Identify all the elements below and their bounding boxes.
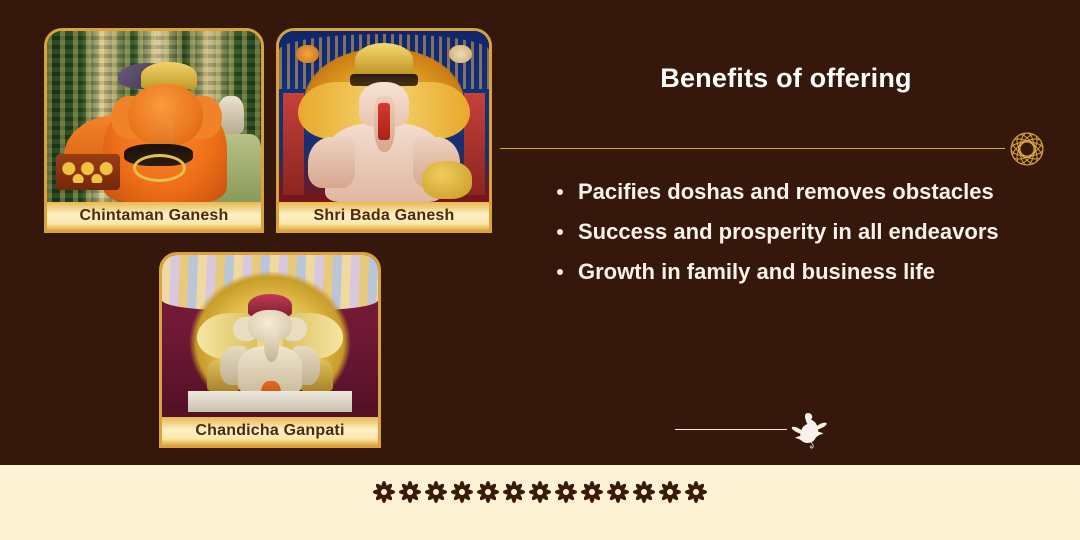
eight-petal-flower-icon xyxy=(449,479,475,525)
slide-root: Chintaman Ganesh xyxy=(0,0,1080,540)
eight-petal-flower-icon xyxy=(371,479,397,525)
eight-petal-flower-icon xyxy=(527,479,553,525)
photo-caption: Shri Bada Ganesh xyxy=(279,202,489,230)
list-item: Pacifies doshas and removes obstacles xyxy=(548,172,1048,212)
eight-petal-flower-icon xyxy=(553,479,579,525)
eight-petal-flower-icon xyxy=(579,479,605,525)
list-item: Success and prosperity in all endeavors xyxy=(548,212,1048,252)
gold-divider-rule xyxy=(500,148,1005,149)
list-item: Growth in family and business life xyxy=(548,252,1048,292)
photo-caption: Chandicha Ganpati xyxy=(162,417,378,445)
eight-petal-flower-icon xyxy=(605,479,631,525)
chandicha-ganpati-idol-photo xyxy=(162,255,378,417)
ganesha-divider xyxy=(675,410,940,450)
benefits-list: Pacifies doshas and removes obstacles Su… xyxy=(548,172,1048,292)
content-panel: Benefits of offering xyxy=(500,0,1080,465)
photo-card-chintaman-ganesh[interactable]: Chintaman Ganesh xyxy=(44,28,264,233)
divider-line-left xyxy=(675,429,787,430)
eight-petal-flower-icon xyxy=(683,479,709,525)
eight-petal-flower-icon xyxy=(475,479,501,525)
mandala-rosette-icon xyxy=(1000,122,1054,176)
photo-caption: Chintaman Ganesh xyxy=(47,202,261,230)
image-collage: Chintaman Ganesh xyxy=(0,0,500,465)
eight-petal-flower-icon xyxy=(657,479,683,525)
eight-petal-flower-icon xyxy=(501,479,527,525)
ganesha-silhouette-icon xyxy=(787,410,829,450)
photo-card-chandicha-ganpati[interactable]: Chandicha Ganpati xyxy=(159,252,381,448)
shri-bada-ganesh-idol-photo xyxy=(279,31,489,202)
flower-ornament-row xyxy=(0,479,1080,525)
eight-petal-flower-icon xyxy=(397,479,423,525)
chintaman-ganesh-idol-photo xyxy=(47,31,261,202)
photo-card-shri-bada-ganesh[interactable]: Shri Bada Ganesh xyxy=(276,28,492,233)
eight-petal-flower-icon xyxy=(423,479,449,525)
bottom-band xyxy=(0,465,1080,540)
page-title: Benefits of offering xyxy=(496,63,1076,94)
eight-petal-flower-icon xyxy=(631,479,657,525)
